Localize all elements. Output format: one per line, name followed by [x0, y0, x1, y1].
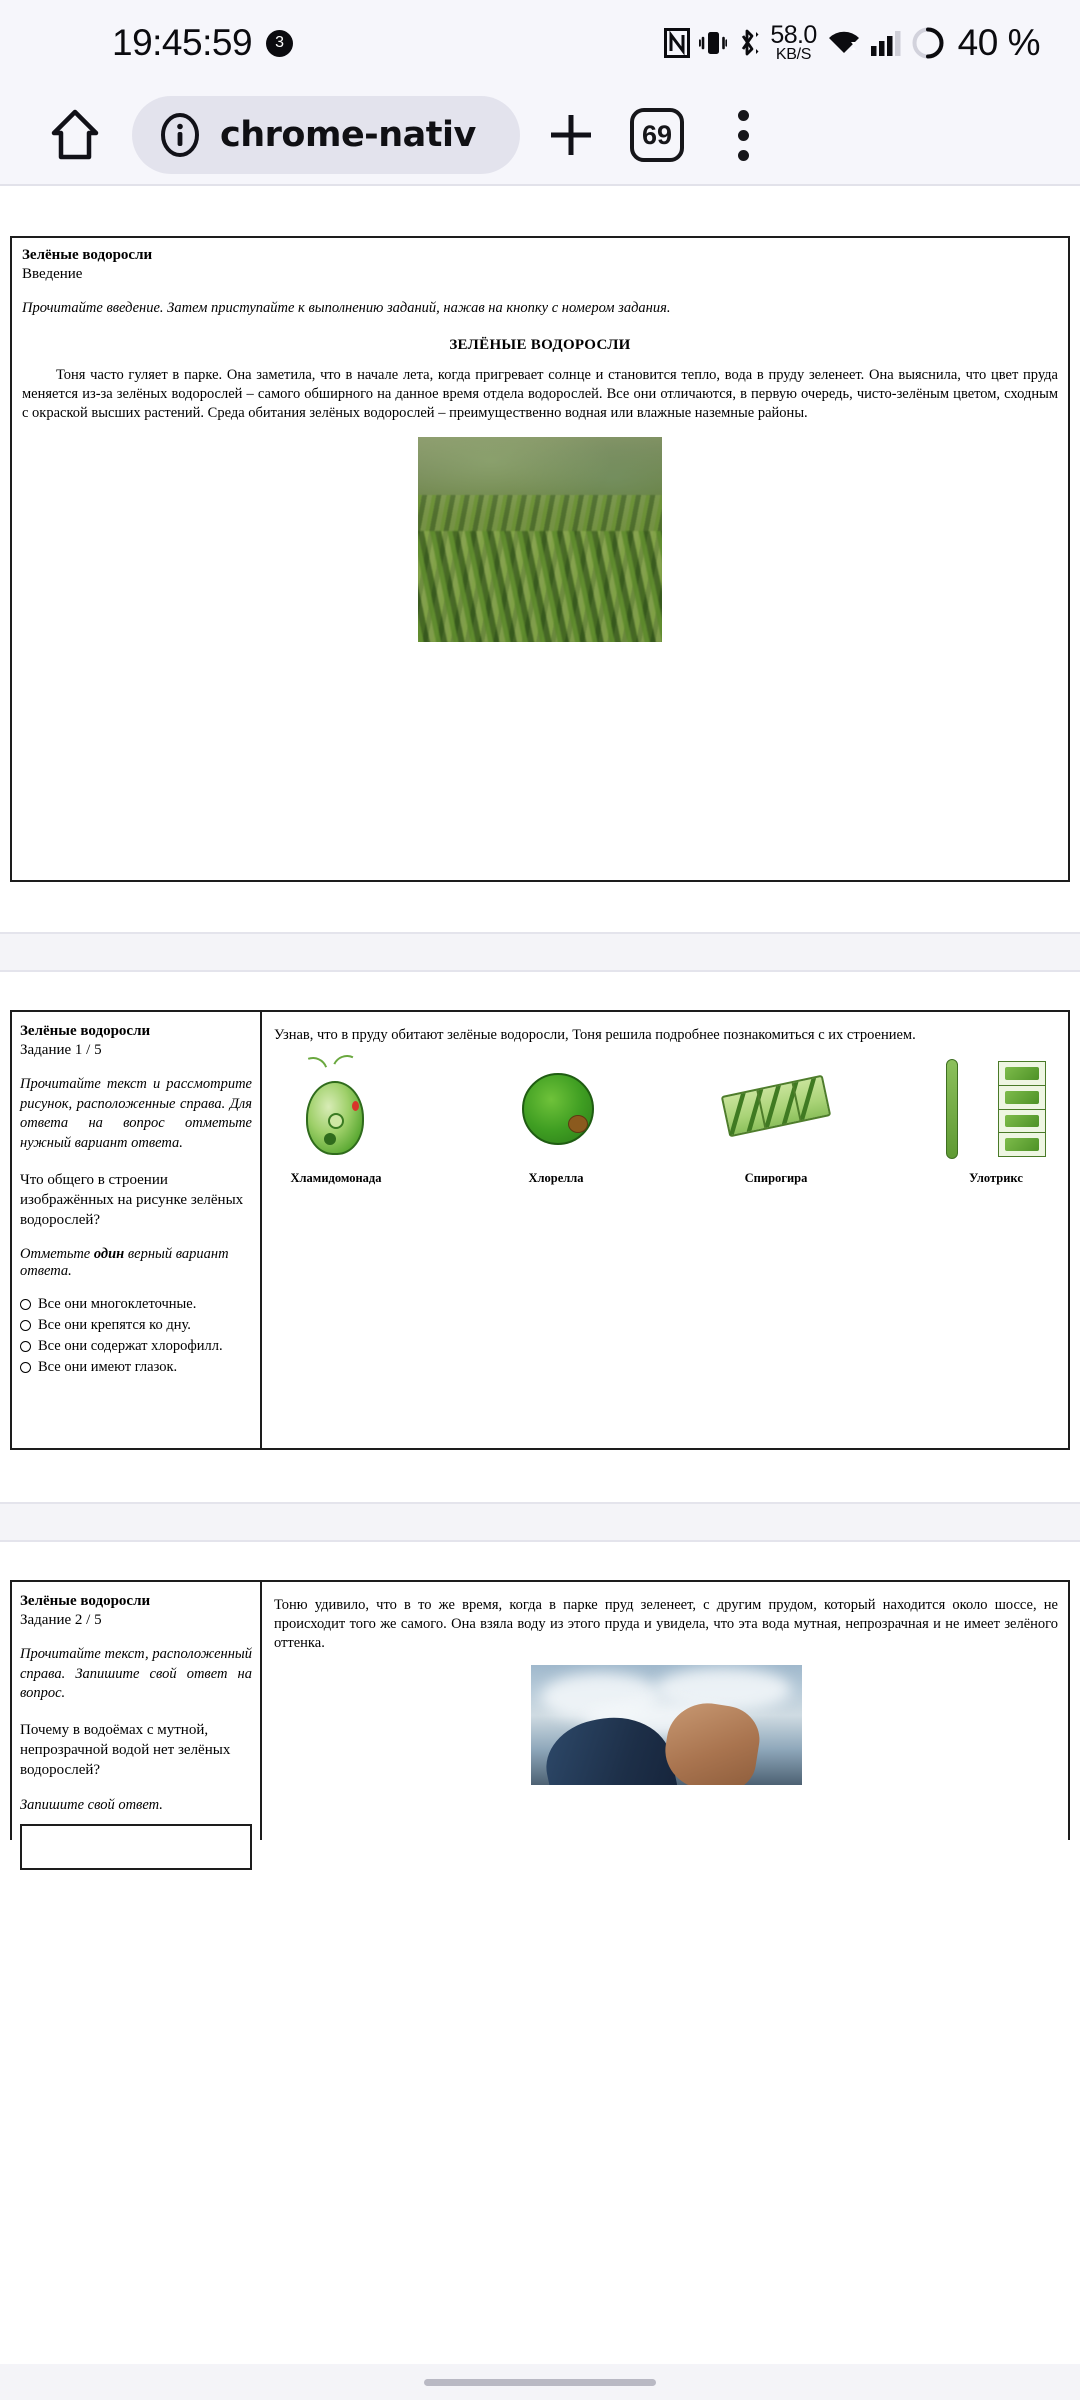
task1-figures-row: Хламидомонада Хлорелла [274, 1045, 1058, 1186]
task1-option-label: Все они многоклеточные. [38, 1294, 196, 1315]
task1-option-2[interactable]: Все они содержат хлорофилл. [20, 1336, 252, 1357]
water-sample-photo [531, 1665, 802, 1785]
content-top-spacer [0, 186, 1080, 236]
task1-title: Зелёные водоросли [20, 1022, 252, 1041]
alarm-badge-icon: 3 [266, 30, 293, 57]
gap-spacer-bottom-2 [0, 1542, 1080, 1580]
new-tab-button[interactable] [528, 92, 614, 178]
spirogyra-filament [721, 1075, 831, 1138]
underwater-algae-photo [418, 437, 662, 642]
cellular-signal-icon [870, 28, 902, 58]
figure-spirogyra: Спирогира [720, 1055, 832, 1186]
task1-option-1[interactable]: Все они крепятся ко дну. [20, 1315, 252, 1336]
gap-spacer-top-1 [0, 882, 1080, 932]
section-gap-2 [0, 1502, 1080, 1542]
chlorella-figure [500, 1055, 612, 1163]
task2-answer-hint: Запишите свой ответ. [20, 1797, 252, 1814]
task1-left-pane: Зелёные водоросли Задание 1 / 5 Прочитай… [12, 1012, 262, 1448]
task2-left-pane: Зелёные водоросли Задание 2 / 5 Прочитай… [12, 1582, 262, 1840]
network-speed-indicator: 58.0 KB/S [770, 24, 816, 63]
task1-option-label: Все они крепятся ко дну. [38, 1315, 191, 1336]
task1-mark-hint-bold: один [94, 1246, 124, 1262]
intro-paragraph: Тоня часто гуляет в парке. Она заметила,… [22, 366, 1058, 423]
browser-toolbar: chrome-nativ 69 [0, 86, 1080, 184]
figure-chlorella: Хлорелла [500, 1055, 612, 1186]
gap-spacer-bottom-1 [0, 972, 1080, 1010]
intro-pane: Зелёные водоросли Введение Прочитайте вв… [12, 238, 1068, 650]
eyespot [352, 1101, 359, 1111]
radio-icon[interactable] [20, 1362, 31, 1373]
url-bar[interactable]: chrome-nativ [132, 96, 520, 174]
vibrate-icon [699, 28, 727, 58]
task1-option-label: Все они имеют глазок. [38, 1357, 177, 1378]
status-clock: 19:45:59 [112, 22, 252, 64]
wifi-icon [827, 28, 861, 58]
intro-card-title: Зелёные водоросли [22, 246, 1058, 265]
figure-chlamydomonas: Хламидомонада [280, 1055, 392, 1186]
bluetooth-icon [736, 27, 760, 59]
tab-count-label: 69 [630, 108, 684, 162]
figure-caption: Спирогира [720, 1171, 832, 1186]
task1-right-text: Узнав, что в пруду обитают зелёные водор… [274, 1026, 1058, 1045]
section-gap-1 [0, 932, 1080, 972]
figure-caption: Хлорелла [500, 1171, 612, 1186]
home-button[interactable] [32, 92, 118, 178]
task2-question: Почему в водоёмах с мутной, непрозрачной… [20, 1720, 252, 1781]
task2-title: Зелёные водоросли [20, 1592, 252, 1611]
intro-card-subtitle: Введение [22, 265, 1058, 285]
chlamydomonas-cell [306, 1081, 364, 1155]
figure-caption: Улотрикс [940, 1171, 1052, 1186]
task1-mark-hint: Отметьте один верный вариант ответа. [20, 1246, 252, 1280]
task1-question: Что общего в строении изображённых на ри… [20, 1170, 252, 1231]
status-bar: 19:45:59 3 58.0 KB/ [0, 0, 1080, 86]
network-speed-unit: KB/S [776, 47, 811, 62]
overflow-menu-icon [738, 110, 749, 161]
home-icon [51, 109, 99, 161]
intro-instruction: Прочитайте введение. Затем приступайте к… [22, 299, 1058, 319]
task2-right-pane: Тоню удивило, что в то же время, когда в… [262, 1582, 1068, 1840]
status-bar-left: 19:45:59 3 [112, 22, 293, 64]
task2-subtitle: Задание 2 / 5 [20, 1611, 252, 1631]
ulothrix-filament [946, 1059, 958, 1159]
navigation-handle-bar[interactable] [0, 2364, 1080, 2400]
task1-option-3[interactable]: Все они имеют глазок. [20, 1357, 252, 1378]
browser-shell: 19:45:59 3 58.0 KB/ [0, 0, 1080, 186]
task1-options-group: Все они многоклеточные. Все они крепятся… [20, 1294, 252, 1378]
figure-ulothrix: Улотрикс [940, 1055, 1052, 1186]
chlorella-cell [522, 1073, 594, 1145]
overflow-menu-button[interactable] [700, 92, 786, 178]
url-text[interactable]: chrome-nativ [220, 115, 476, 155]
gesture-handle[interactable] [424, 2379, 656, 2386]
plus-icon [546, 110, 596, 160]
task1-mark-hint-prefix: Отметьте [20, 1246, 94, 1262]
radio-icon[interactable] [20, 1341, 31, 1352]
ulothrix-figure [940, 1055, 1052, 1163]
intro-heading: ЗЕЛЁНЫЕ ВОДОРОСЛИ [22, 337, 1058, 354]
task2-instruction: Прочитайте текст, расположенный справа. … [20, 1645, 252, 1704]
ulothrix-cells [998, 1061, 1046, 1157]
task1-right-pane: Узнав, что в пруду обитают зелёные водор… [262, 1012, 1068, 1448]
task1-card: Зелёные водоросли Задание 1 / 5 Прочитай… [10, 1010, 1070, 1450]
web-page-content: Зелёные водоросли Введение Прочитайте вв… [0, 186, 1080, 1840]
battery-percent: 40 % [958, 22, 1040, 64]
task1-option-label: Все они содержат хлорофилл. [38, 1336, 223, 1357]
task1-subtitle: Задание 1 / 5 [20, 1041, 252, 1061]
gap-spacer-top-2 [0, 1450, 1080, 1502]
task2-right-text: Тоню удивило, что в то же время, когда в… [274, 1596, 1058, 1653]
info-icon[interactable] [158, 113, 202, 157]
status-bar-right: 58.0 KB/S 40 % [664, 22, 1040, 64]
chlamydomonas-figure [280, 1055, 392, 1163]
radio-icon[interactable] [20, 1320, 31, 1331]
intro-card: Зелёные водоросли Введение Прочитайте вв… [10, 236, 1070, 882]
nfc-icon [664, 28, 690, 58]
task2-answer-input[interactable] [20, 1824, 252, 1870]
radio-icon[interactable] [20, 1299, 31, 1310]
task2-card: Зелёные водоросли Задание 2 / 5 Прочитай… [10, 1580, 1070, 1840]
network-speed-value: 58.0 [770, 24, 816, 48]
tab-switcher-button[interactable]: 69 [614, 92, 700, 178]
battery-icon [911, 26, 945, 60]
spirogyra-figure [720, 1055, 832, 1163]
task1-instruction: Прочитайте текст и рассмотрите рисунок, … [20, 1075, 252, 1153]
task1-option-0[interactable]: Все они многоклеточные. [20, 1294, 252, 1315]
figure-caption: Хламидомонада [280, 1171, 392, 1186]
